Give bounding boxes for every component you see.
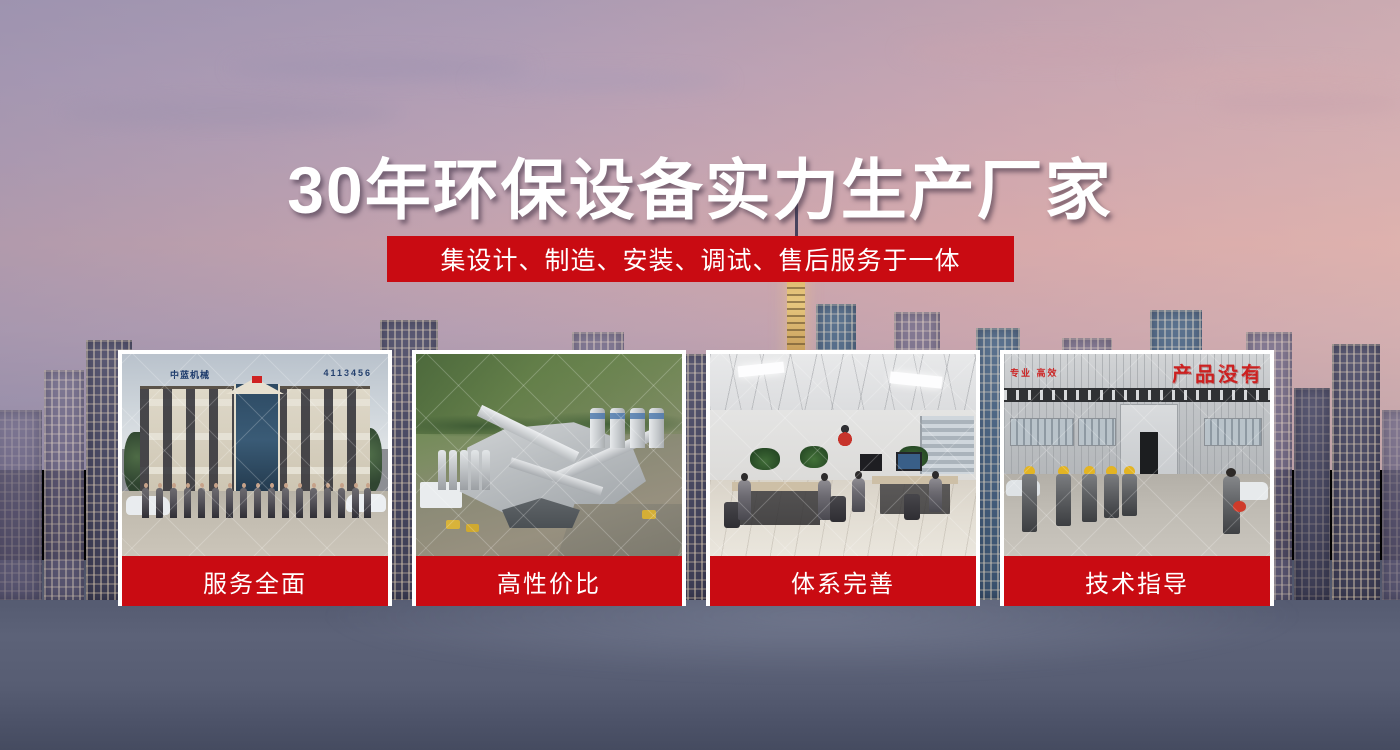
feature-card-system[interactable]: 体系完善 bbox=[706, 350, 980, 606]
stack-group bbox=[438, 446, 490, 490]
feature-card-value[interactable]: 高性价比 bbox=[412, 350, 686, 606]
card-photo-office-building: 中蓝机械 4113456 bbox=[122, 354, 388, 556]
red-helmet bbox=[1233, 501, 1246, 512]
staff-row bbox=[142, 482, 372, 518]
card-label-system: 体系完善 bbox=[710, 556, 976, 606]
page-title: 30年环保设备实力生产厂家 bbox=[0, 137, 1400, 233]
card-label-service: 服务全面 bbox=[122, 556, 388, 606]
wall-logo bbox=[828, 420, 862, 452]
card-photo-office-interior bbox=[710, 354, 976, 556]
card-photo-worker-training: 产品没有 专业 高效 bbox=[1004, 354, 1270, 556]
subtitle-text: 集设计、制造、安装、调试、售后服务于一体 bbox=[440, 241, 960, 277]
factory-sign-main: 产品没有 bbox=[1172, 358, 1264, 387]
factory-sign-side: 专业 高效 bbox=[1010, 368, 1059, 379]
silo-group bbox=[590, 406, 664, 448]
card-photo-plant-aerial bbox=[416, 354, 682, 556]
promotional-banner: 30年环保设备实力生产厂家 集设计、制造、安装、调试、售后服务于一体 中蓝机械 … bbox=[0, 0, 1400, 750]
feature-card-service[interactable]: 中蓝机械 4113456 服务全面 bbox=[118, 350, 392, 606]
subtitle-banner: 集设计、制造、安装、调试、售后服务于一体 bbox=[387, 236, 1014, 282]
card-label-value: 高性价比 bbox=[416, 556, 682, 606]
feature-card-guidance[interactable]: 产品没有 专业 高效 技术指导 bbox=[1000, 350, 1274, 606]
card-label-guidance: 技术指导 bbox=[1004, 556, 1270, 606]
building-phone-number: 4113456 bbox=[323, 368, 372, 378]
building-signage: 中蓝机械 bbox=[170, 368, 210, 381]
feature-card-list: 中蓝机械 4113456 服务全面 bbox=[118, 350, 1277, 606]
